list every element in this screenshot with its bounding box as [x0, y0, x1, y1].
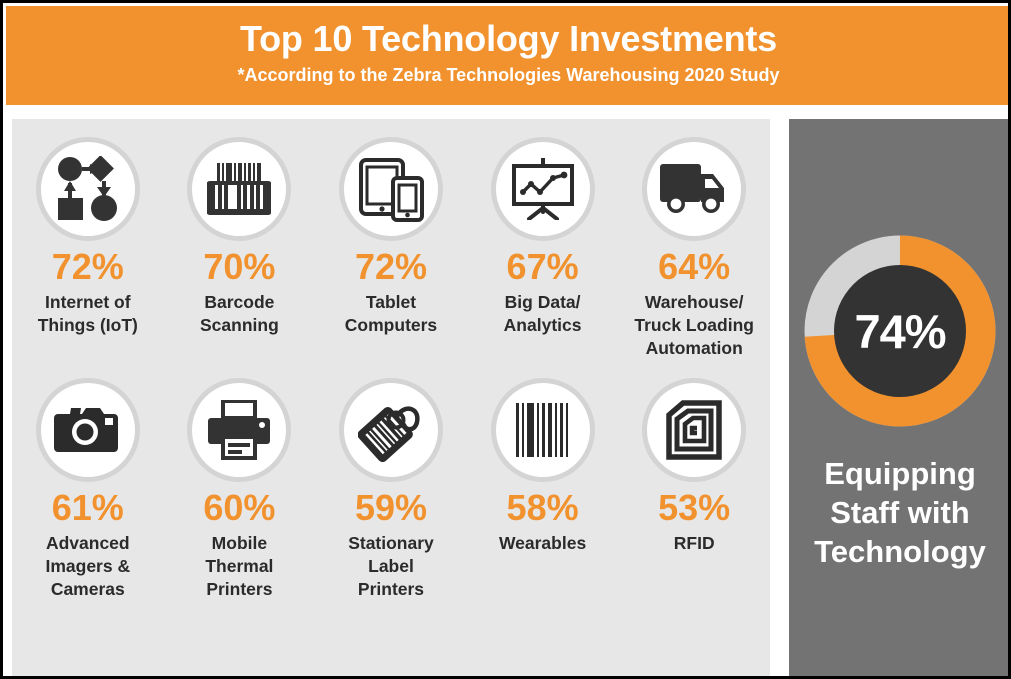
stat-percent: 53% — [618, 489, 770, 528]
stat-percent: 67% — [467, 248, 619, 287]
header-banner: Top 10 Technology Investments *According… — [6, 6, 1011, 105]
donut-panel: 74% Equipping Staff with Technology — [789, 119, 1011, 676]
stat-percent: 58% — [467, 489, 619, 528]
stat-item-big-data[interactable]: 67% Big Data/ Analytics — [467, 119, 619, 360]
stat-item-barcode-scanning[interactable]: 70% Barcode Scanning — [164, 119, 316, 360]
page-title: Top 10 Technology Investments — [6, 19, 1011, 59]
infographic-root: Top 10 Technology Investments *According… — [0, 0, 1011, 679]
stat-item-rfid[interactable]: 53% RFID — [618, 360, 770, 601]
stat-percent: 64% — [618, 248, 770, 287]
stat-label: Advanced Imagers & Cameras — [12, 532, 164, 601]
stat-label: Warehouse/ Truck Loading Automation — [618, 291, 770, 360]
barcode-icon — [491, 378, 595, 482]
stat-percent: 59% — [315, 489, 467, 528]
tablet-phone-icon — [339, 137, 443, 241]
donut-center: 74% — [834, 265, 966, 397]
stat-item-wearables[interactable]: 58% Wearables — [467, 360, 619, 601]
stat-label: Tablet Computers — [315, 291, 467, 337]
page-subtitle: *According to the Zebra Technologies War… — [6, 64, 1011, 87]
stat-percent: 61% — [12, 489, 164, 528]
barcode-scanner-icon — [187, 137, 291, 241]
stat-percent: 72% — [12, 248, 164, 287]
stat-item-mobile-thermal-printers[interactable]: 60% Mobile Thermal Printers — [164, 360, 316, 601]
donut-wrapper: 74% Equipping Staff with Technology — [789, 235, 1011, 571]
stat-percent: 60% — [164, 489, 316, 528]
stat-item-advanced-imagers[interactable]: 61% Advanced Imagers & Cameras — [12, 360, 164, 601]
delivery-truck-icon — [642, 137, 746, 241]
stat-label: Big Data/ Analytics — [467, 291, 619, 337]
stat-label: Barcode Scanning — [164, 291, 316, 337]
stat-item-stationary-label-printers[interactable]: 59% Stationary Label Printers — [315, 360, 467, 601]
stats-panel: 72% Internet of Things (IoT) — [12, 119, 770, 676]
stat-item-tablet-computers[interactable]: 72% Tablet Computers — [315, 119, 467, 360]
stat-label: Mobile Thermal Printers — [164, 532, 316, 601]
rfid-antenna-icon — [642, 378, 746, 482]
presentation-chart-icon — [491, 137, 595, 241]
donut-caption: Equipping Staff with Technology — [789, 455, 1011, 571]
stat-item-warehouse-truck[interactable]: 64% Warehouse/ Truck Loading Automation — [618, 119, 770, 360]
stat-percent: 72% — [315, 248, 467, 287]
stat-item-iot[interactable]: 72% Internet of Things (IoT) — [12, 119, 164, 360]
donut-chart: 74% — [804, 235, 996, 427]
stat-percent: 70% — [164, 248, 316, 287]
stats-grid: 72% Internet of Things (IoT) — [12, 119, 770, 601]
stat-label: RFID — [618, 532, 770, 555]
camera-icon — [36, 378, 140, 482]
stat-label: Wearables — [467, 532, 619, 555]
stat-label: Stationary Label Printers — [315, 532, 467, 601]
printer-icon — [187, 378, 291, 482]
stat-label: Internet of Things (IoT) — [12, 291, 164, 337]
iot-network-icon — [36, 137, 140, 241]
donut-value-label: 74% — [854, 308, 945, 355]
label-tag-icon — [339, 378, 443, 482]
